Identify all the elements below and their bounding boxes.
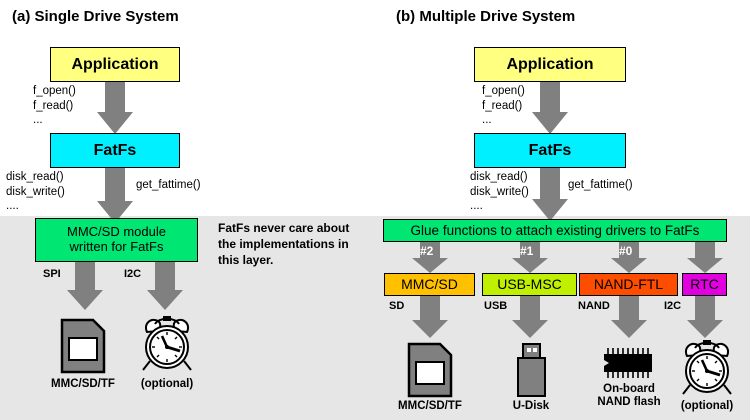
panel-a-title: (a) Single Drive System bbox=[12, 8, 179, 25]
panel-b-application-box: Application bbox=[474, 47, 626, 82]
panel-b-driver-box-nandftl: NAND-FTL bbox=[579, 273, 678, 296]
panel-b-arrow-fatfs-to-glue bbox=[532, 168, 568, 221]
panel-b-interface-sd: SD bbox=[389, 300, 404, 312]
panel-b-driver-box-mmcsd: MMC/SD bbox=[384, 273, 475, 296]
panel-a-i2c-label: I2C bbox=[124, 268, 141, 280]
panel-a-note: FatFs never care about the implementatio… bbox=[218, 220, 368, 269]
panel-a-sd-caption: MMC/SD/TF bbox=[45, 378, 121, 391]
panel-b-device-caption-udisk: U-Disk bbox=[497, 400, 565, 413]
panel-a-arrow-fatfs-to-driver bbox=[97, 168, 133, 223]
panel-b-driver-box-rtc: RTC bbox=[682, 273, 727, 296]
panel-a-mmcsd-module-box: MMC/SD module written for FatFs bbox=[35, 218, 198, 262]
panel-b-app-call-labels: f_open() f_read() ... bbox=[482, 84, 525, 128]
panel-b-title: (b) Multiple Drive System bbox=[396, 8, 575, 25]
panel-b-device-caption-card: MMC/SD/TF bbox=[392, 400, 468, 413]
panel-b-device-caption-rtc: (optional) bbox=[673, 400, 741, 413]
alarm-clock-icon bbox=[137, 314, 197, 374]
panel-a-arrow-app-to-fatfs bbox=[97, 82, 133, 134]
panel-a-disk-call-labels: disk_read() disk_write() .... bbox=[6, 170, 65, 214]
diagram-canvas: (a) Single Drive System Application f_op… bbox=[0, 0, 750, 420]
panel-b-arrow-rtc-to-clock bbox=[687, 296, 723, 338]
panel-a-spi-label: SPI bbox=[43, 268, 61, 280]
panel-a-fatfs-box: FatFs bbox=[50, 133, 180, 168]
panel-b-arrow-usbmsc-to-udisk bbox=[512, 296, 548, 338]
panel-b-interface-usb: USB bbox=[484, 300, 507, 312]
panel-a-application-box: Application bbox=[50, 47, 180, 82]
panel-a-rtc-caption: (optional) bbox=[134, 378, 200, 391]
usb-drive-icon bbox=[512, 342, 550, 400]
panel-b-glue-box: Glue functions to attach existing driver… bbox=[383, 219, 727, 242]
panel-b-get-fattime-label: get_fattime() bbox=[568, 178, 633, 193]
panel-b-interface-i2c: I2C bbox=[664, 300, 681, 312]
panel-b-driver-box-usbmsc: USB-MSC bbox=[482, 273, 577, 296]
panel-b-drive-number-2: #2 bbox=[420, 244, 433, 258]
panel-b-arrow-nandftl-to-flash bbox=[611, 296, 647, 338]
panel-b-fatfs-box: FatFs bbox=[474, 133, 626, 168]
panel-b-interface-nand: NAND bbox=[578, 300, 610, 312]
sd-card-icon bbox=[60, 318, 106, 374]
sd-card-icon bbox=[407, 342, 453, 398]
panel-b-arrow-app-to-fatfs bbox=[532, 82, 568, 134]
panel-a-arrow-i2c bbox=[147, 262, 183, 310]
panel-a-app-call-labels: f_open() f_read() ... bbox=[33, 84, 76, 128]
nand-chip-icon bbox=[601, 345, 657, 381]
panel-b-drive-number-1: #1 bbox=[520, 244, 533, 258]
panel-b-device-caption-nand: On-board NAND flash bbox=[588, 383, 670, 409]
panel-b-arrow-glue-to-rtc bbox=[687, 242, 723, 273]
panel-a-get-fattime-label: get_fattime() bbox=[136, 178, 201, 193]
panel-a-arrow-spi bbox=[67, 262, 103, 310]
panel-b-arrow-mmcsd-to-card bbox=[412, 296, 448, 338]
alarm-clock-icon bbox=[677, 338, 737, 398]
panel-b-drive-number-0: #0 bbox=[619, 244, 632, 258]
panel-b-disk-call-labels: disk_read() disk_write() .... bbox=[470, 170, 529, 214]
